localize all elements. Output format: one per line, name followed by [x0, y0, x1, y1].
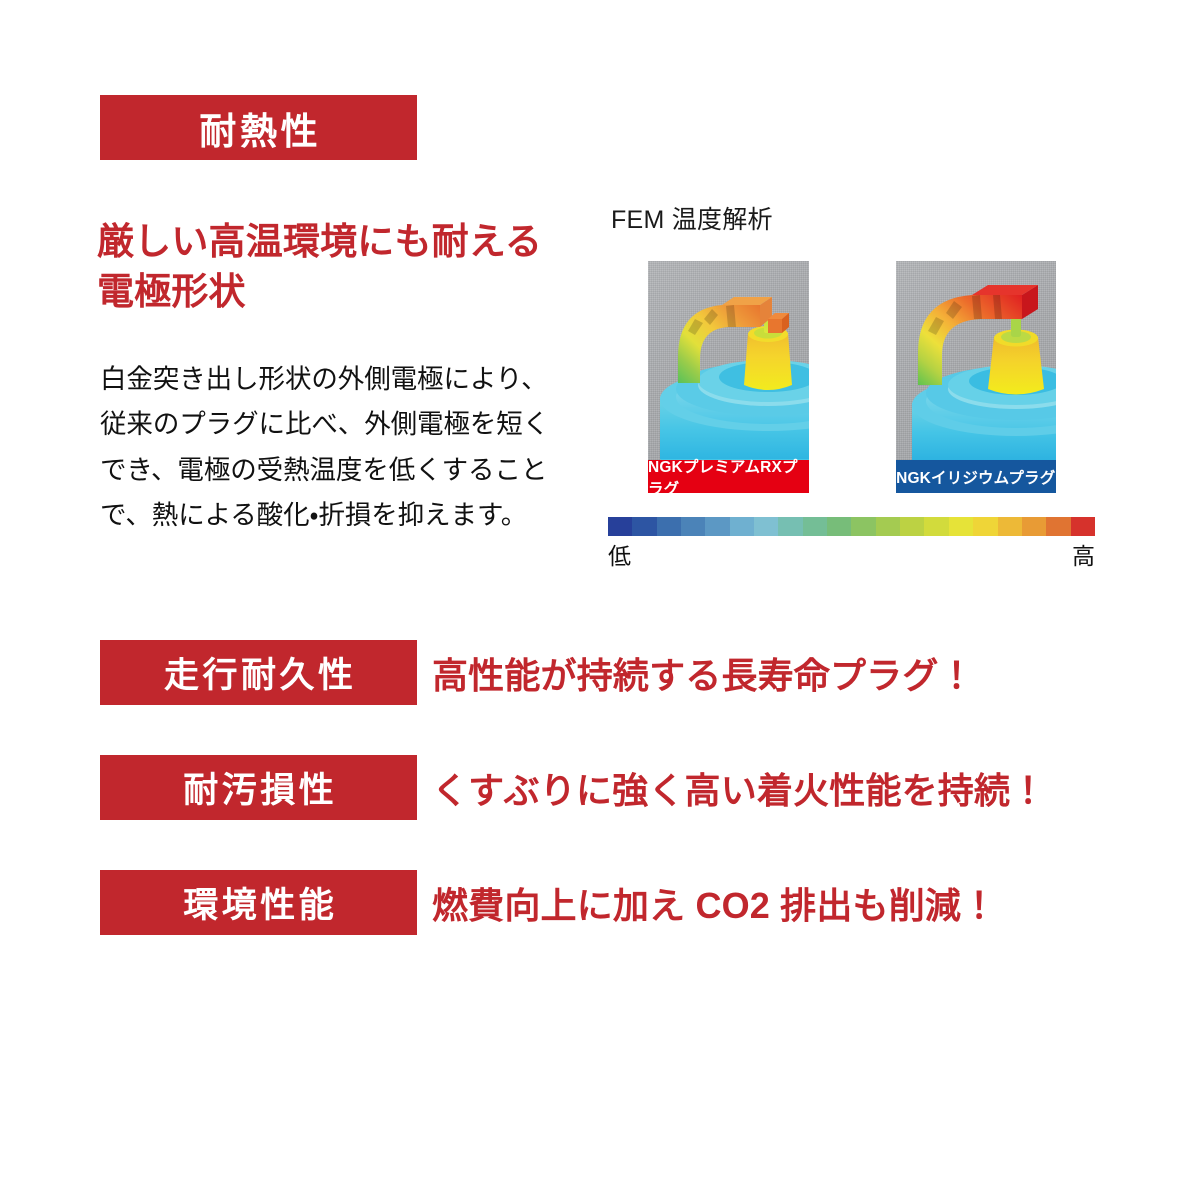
heat-resistance-body-text: 白金突き出し形状の外側電極により、 従来のプラグに比べ、外側電極を短く でき、電… — [100, 357, 600, 539]
heat-resistance-section: 耐熱性 厳しい高温環境にも耐える 電極形状 白金突き出し形状の外側電極により、 … — [0, 0, 1200, 560]
heading-line-2: 電極形状 — [97, 271, 246, 312]
feature-row: 耐汚損性くすぶりに強く高い着火性能を持続！ — [0, 755, 1200, 820]
body-line-2: 従来のプラグに比べ、外側電極を短く — [100, 409, 549, 439]
fem-color-scale-labels: 低 高 — [608, 537, 1095, 571]
fem-color-scale-segment — [876, 517, 900, 536]
heading-line-1: 厳しい高温環境にも耐える — [97, 221, 542, 262]
fem-caption-premium-rx: NGKプレミアムRXプラグ — [648, 460, 809, 493]
fem-color-scale-segment — [754, 517, 778, 536]
feature-text: くすぶりに強く高い着火性能を持続！ — [432, 762, 1046, 814]
fem-color-scale-segment — [657, 517, 681, 536]
fem-color-scale-bar — [608, 517, 1095, 536]
feature-badge: 走行耐久性 — [100, 640, 417, 705]
fem-color-scale-segment — [803, 517, 827, 536]
heat-resistance-badge: 耐熱性 — [100, 95, 417, 160]
fem-color-scale-segment — [608, 517, 632, 536]
fem-color-scale-segment — [827, 517, 851, 536]
fem-color-scale-wrapper: 低 高 — [608, 517, 1095, 571]
feature-badge: 環境性能 — [100, 870, 417, 935]
fem-caption-iridium: NGKイリジウムプラグ — [896, 460, 1057, 493]
fem-color-scale-segment — [1022, 517, 1046, 536]
fem-color-scale-segment — [998, 517, 1022, 536]
fem-analysis-title: FEM 温度解析 — [608, 200, 1096, 236]
fem-color-scale-segment — [705, 517, 729, 536]
fem-panel-iridium: NGKイリジウムプラグ — [896, 261, 1057, 493]
fem-color-scale-segment — [681, 517, 705, 536]
fem-color-scale-segment — [851, 517, 875, 536]
feature-row: 環境性能燃費向上に加え CO2 排出も削減！ — [0, 870, 1200, 935]
fem-color-scale-segment — [778, 517, 802, 536]
body-line-4: で、熱による酸化・折損を抑えます。 — [100, 500, 527, 530]
fem-panel-group: NGKプレミアムRXプラグ — [608, 245, 1096, 509]
fem-color-scale-segment — [730, 517, 754, 536]
feature-row: 走行耐久性高性能が持続する長寿命プラグ！ — [0, 640, 1200, 705]
body-line-1: 白金突き出し形状の外側電極により、 — [100, 364, 548, 394]
scale-high-label: 高 — [1072, 537, 1095, 571]
fem-analysis-block: FEM 温度解析 — [608, 200, 1096, 571]
feature-rows-section: 走行耐久性高性能が持続する長寿命プラグ！耐汚損性くすぶりに強く高い着火性能を持続… — [0, 640, 1200, 985]
fem-color-scale-segment — [900, 517, 924, 536]
fem-color-scale-segment — [632, 517, 656, 536]
fem-panel-premium-rx: NGKプレミアムRXプラグ — [648, 261, 809, 493]
fem-color-scale-segment — [973, 517, 997, 536]
fem-color-scale-segment — [949, 517, 973, 536]
fem-color-scale-segment — [1071, 517, 1095, 536]
scale-low-label: 低 — [608, 537, 631, 571]
feature-badge: 耐汚損性 — [100, 755, 417, 820]
body-line-3: でき、電極の受熱温度を低くすること — [100, 455, 547, 485]
heat-resistance-heading: 厳しい高温環境にも耐える 電極形状 — [97, 217, 597, 318]
fem-color-scale-segment — [924, 517, 948, 536]
feature-text: 燃費向上に加え CO2 排出も削減！ — [432, 877, 997, 929]
feature-text: 高性能が持続する長寿命プラグ！ — [432, 647, 975, 699]
fem-color-scale-segment — [1046, 517, 1070, 536]
